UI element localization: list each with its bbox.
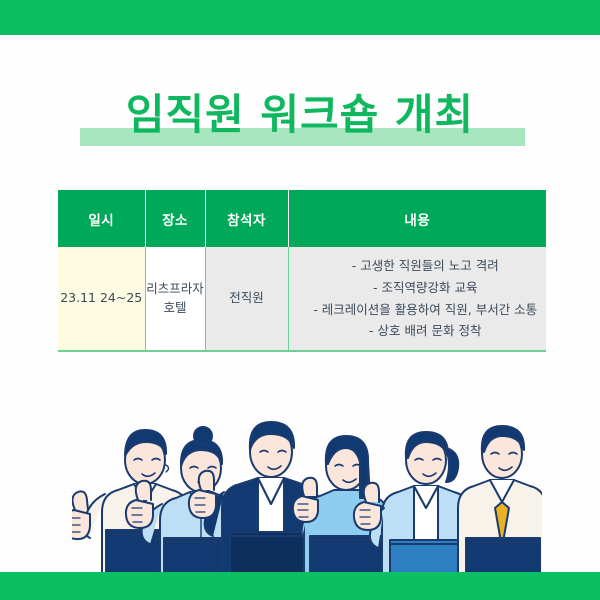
list-item: - 상호 배려 문화 정착 (305, 320, 547, 342)
list-item: - 고생한 직원들의 노고 격려 (305, 255, 547, 277)
table-header: 일시 장소 참석자 내용 (58, 190, 546, 247)
table-body: 23.11 24~25 리츠프라자 호텔 전직원 - 고생한 직원들의 노고 격… (58, 247, 546, 351)
cell-place-line2: 호텔 (163, 300, 186, 315)
column-header-date: 일시 (58, 190, 145, 247)
content-bullet-list: - 고생한 직원들의 노고 격려 - 조직역량강화 교육 - 레크레이션을 활용… (305, 255, 547, 343)
bottom-brand-bar (0, 572, 600, 600)
list-item: - 조직역량강화 교육 (305, 277, 547, 299)
cell-date: 23.11 24~25 (58, 247, 145, 351)
column-header-content: 내용 (288, 190, 546, 247)
illustration-six-business-people-thumbs-up (72, 362, 542, 577)
top-brand-bar (0, 0, 600, 35)
title-block: 임직원 워크숍 개최 (0, 86, 600, 148)
column-header-place: 장소 (145, 190, 205, 247)
cell-place-line1: 리츠프라자 (146, 281, 204, 296)
person-6 (458, 426, 542, 577)
column-header-attendees: 참석자 (205, 190, 288, 247)
people-illustration-svg (72, 362, 542, 577)
poster: 임직원 워크숍 개최 일시 장소 참석자 내용 23.11 24~25 리츠프라… (0, 0, 600, 600)
table-header-row: 일시 장소 참석자 내용 (58, 190, 546, 247)
cell-content: - 고생한 직원들의 노고 격려 - 조직역량강화 교육 - 레크레이션을 활용… (288, 247, 546, 351)
table-row: 23.11 24~25 리츠프라자 호텔 전직원 - 고생한 직원들의 노고 격… (58, 247, 546, 351)
cell-attendees: 전직원 (205, 247, 288, 351)
workshop-info-table: 일시 장소 참석자 내용 23.11 24~25 리츠프라자 호텔 전직원 - … (58, 190, 546, 352)
cell-place: 리츠프라자 호텔 (145, 247, 205, 351)
list-item: - 레크레이션을 활용하여 직원, 부서간 소통 (305, 299, 547, 321)
page-title: 임직원 워크숍 개최 (126, 86, 474, 144)
